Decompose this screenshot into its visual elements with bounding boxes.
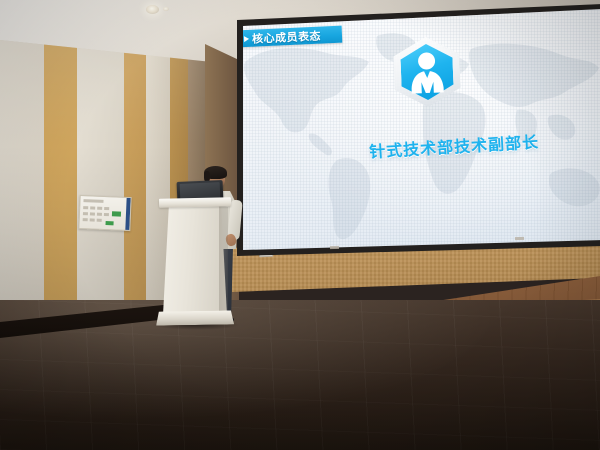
- ceiling-downlight-icon: [146, 5, 159, 14]
- panel-cell: [83, 218, 88, 221]
- arrow-right-icon: [244, 35, 249, 41]
- panel-blue-strip: [125, 198, 130, 230]
- panel-cell: [83, 206, 88, 209]
- panel-cell: [90, 218, 95, 221]
- screen-mount-clip: [330, 246, 339, 249]
- panel-header-line: [83, 199, 103, 203]
- panel-green-indicator-2: [105, 221, 113, 225]
- ceiling-downlight-secondary-icon: [163, 7, 169, 11]
- led-screen-display[interactable]: 核心成员表态 针式技术部技术副部长: [231, 4, 600, 260]
- podium-body: [163, 203, 227, 315]
- screen-mount-clip-2: [515, 237, 524, 240]
- panel-green-indicator: [112, 211, 121, 216]
- panel-cell: [97, 219, 102, 222]
- panel-cell: [104, 213, 109, 216]
- wall-control-panel[interactable]: [78, 195, 131, 231]
- podium-side-edge: [219, 205, 228, 313]
- panel-cell: [97, 213, 102, 216]
- person-glyph-icon: [400, 43, 454, 101]
- panel-cell: [104, 207, 109, 210]
- conference-room-scene: 核心成员表态 针式技术部技术副部长: [0, 0, 600, 450]
- slide-badge-label: 核心成员表态: [252, 27, 322, 46]
- panel-cell: [90, 212, 95, 215]
- podium-top-surface: [159, 197, 231, 208]
- panel-cell: [90, 206, 95, 209]
- person-hexagon-icon: [393, 36, 462, 108]
- panel-cell: [83, 212, 88, 215]
- panel-cell: [97, 207, 102, 210]
- podium-base: [156, 310, 234, 325]
